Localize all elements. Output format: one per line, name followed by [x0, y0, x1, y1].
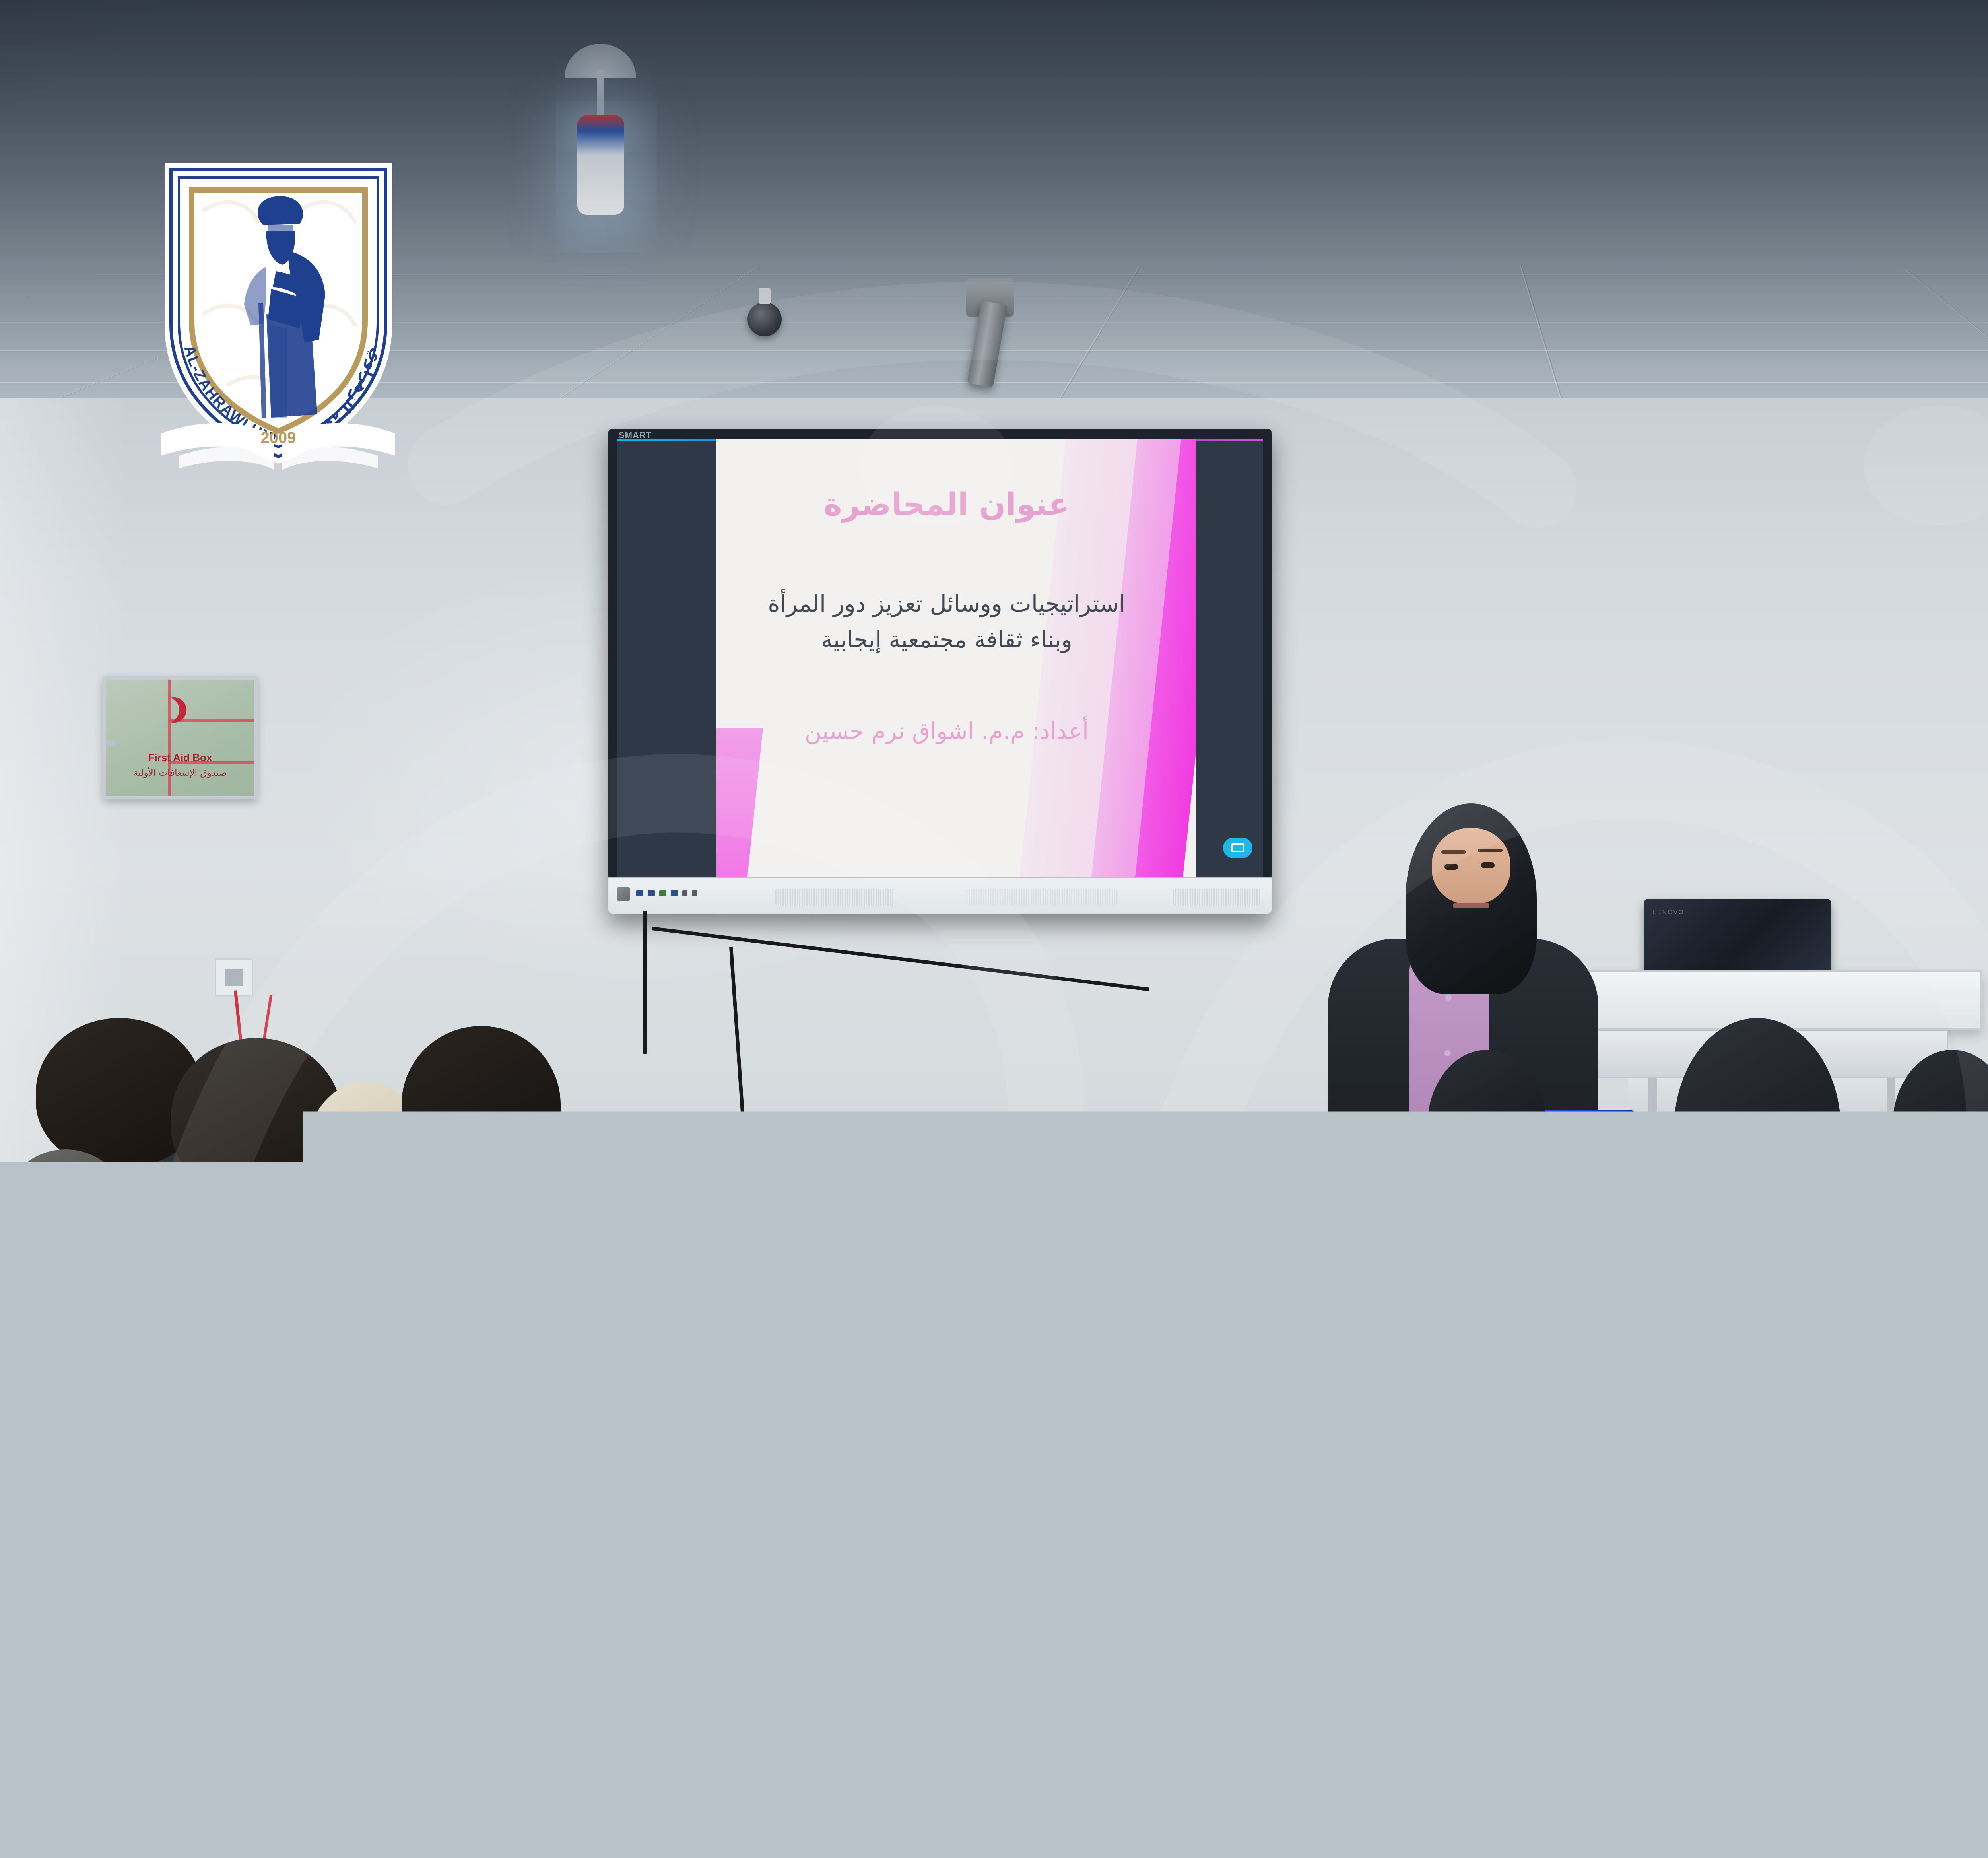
slide-body-line-1: استراتيجيات ووسائل تعزيز دور المرأة [745, 586, 1148, 622]
first-aid-handle[interactable] [105, 740, 115, 746]
presenter-brow-right [1478, 849, 1503, 852]
presenter-brow-left [1441, 850, 1466, 854]
toolbox-icon[interactable] [1223, 838, 1252, 858]
presenter-head-group [1406, 803, 1537, 994]
presenter-face [1432, 828, 1510, 904]
presentation-slide: عنوان المحاضرة استراتيجيات ووسائل تعزيز … [716, 439, 1196, 905]
speaker-grille-right [1173, 889, 1260, 906]
lecture-photo-banner: First Aid Box صندوق الإسعافات الأولية 12… [0, 0, 1988, 1858]
audience-shoulders [378, 1185, 584, 1336]
audience-head [402, 1026, 561, 1183]
smart-board-ports[interactable] [636, 890, 697, 896]
audience-head [0, 1149, 131, 1286]
presenter-eye-left [1444, 864, 1458, 870]
audience-head [1964, 1193, 1988, 1416]
presenter-eye-right [1481, 862, 1495, 868]
audience-head-hijab [1674, 1018, 1841, 1241]
footer-left: www.alzahu.edu.iq info@alzahu.edu.iq [151, 1687, 308, 1739]
speaker-grille-center [966, 889, 1117, 906]
bag [1312, 1416, 1479, 1623]
slide-author-block: أعداد: م.م. اشواق نرم حسين [745, 717, 1148, 744]
armrest-post [619, 1503, 630, 1726]
audience-member [0, 1149, 131, 1320]
open-book-icon: 2009 [147, 410, 410, 481]
lectern-laptop[interactable] [1644, 899, 1831, 978]
armrest-post [489, 1595, 500, 1857]
presenter-mouth [1453, 903, 1489, 908]
speaker-grille-left [775, 889, 895, 906]
first-aid-box: First Aid Box صندوق الإسعافات الأولية [103, 676, 258, 799]
university-logo: AL-ZAHRAWI UNIVERSITY جامعة الزهراوي 200… [147, 155, 410, 469]
first-aid-latch [156, 676, 204, 678]
audience-member [1427, 1050, 1547, 1201]
pendant-lamp-rod [597, 70, 604, 121]
logo-founded-year: 2009 [261, 429, 296, 447]
slide-body-block: استراتيجيات ووسائل تعزيز دور المرأة وبنا… [745, 586, 1148, 658]
audience-member [402, 1026, 561, 1233]
slide-author: أعداد: م.م. اشواق نرم حسين [745, 717, 1148, 744]
audience-head-hijab [1427, 1050, 1547, 1201]
slide-title-block: عنوان المحاضرة [745, 487, 1148, 523]
board-power-cable [643, 911, 647, 1054]
audience-member [1893, 1050, 1988, 1201]
slide-title: عنوان المحاضرة [745, 487, 1148, 523]
footer-email[interactable]: info@alzahu.edu.iq [151, 1713, 308, 1739]
audience-head-hijab [1893, 1050, 1988, 1201]
footer-website[interactable]: www.alzahu.edu.iq [151, 1687, 308, 1712]
dome-camera-icon [747, 302, 782, 336]
smart-board-screen[interactable]: عنوان المحاضرة استراتيجيات ووسائل تعزيز … [617, 439, 1263, 905]
smart-board[interactable]: SMART عنوان المحاضرة استراتيجيات ووسائل … [608, 429, 1272, 914]
smart-board-logo-icon [617, 887, 630, 901]
first-aid-label-ar: صندوق الإسعافات الأولية [106, 768, 254, 778]
slide-body-line-2: وبناء ثقافة مجتمعية إيجابية [745, 622, 1148, 658]
audience-member [1674, 1018, 1841, 1241]
first-aid-label-en: First Aid Box [106, 752, 254, 764]
pendant-lamp-icon [577, 115, 624, 215]
smart-board-chin [608, 877, 1272, 914]
audience-member [1964, 1193, 1988, 1511]
